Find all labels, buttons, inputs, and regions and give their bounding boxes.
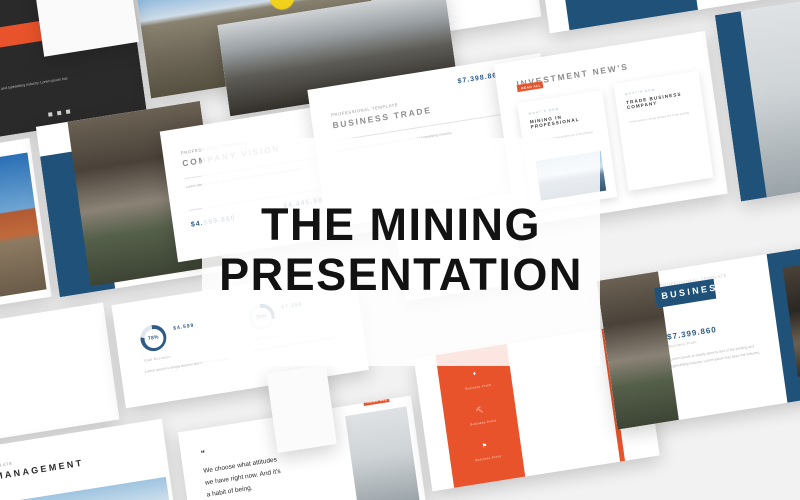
quote-photo xyxy=(345,406,420,500)
excavator-photo xyxy=(0,153,47,308)
donut-78-label: Total Business xyxy=(143,355,171,363)
quote-mark: " xyxy=(200,448,207,459)
contact-blue-block xyxy=(558,0,698,30)
management-title: ABOUT MANAGEMENT xyxy=(0,458,84,490)
donut-78-sub: $4.599 xyxy=(173,323,195,332)
title-line-2: PRESENTATION xyxy=(219,250,583,300)
investment-card-2-kicker: WHAT'S NEW xyxy=(625,87,656,96)
investment-card-2-blurb: Lorem ipsum is simply dummy text of the … xyxy=(629,110,695,126)
investment-card-2[interactable]: WHAT'S NEW TRADE BUSINESS COMPANY Lorem … xyxy=(613,71,713,191)
investment-card-2-photo xyxy=(632,132,703,182)
social-icon-facebook[interactable] xyxy=(57,111,62,116)
slide-worker-portrait[interactable] xyxy=(715,0,800,201)
slide-business-plan[interactable]: Professional Template BUSINESS PLAN $7.3… xyxy=(597,233,800,430)
donut-78-value: 78% xyxy=(139,323,168,353)
plan-figure: $7.399.860 xyxy=(667,325,718,342)
management-photo xyxy=(0,477,174,500)
social-icon-linkedin[interactable] xyxy=(48,112,53,117)
title-line-1: THE MINING xyxy=(261,200,541,250)
presentation-mockup: Mining Reporting About Professional Temp… xyxy=(0,0,800,500)
slide-filler-3 xyxy=(266,364,336,453)
investment-card-1-kicker: WHAT'S NEW xyxy=(528,107,559,116)
plan-figure-label: Business Profit xyxy=(668,340,697,348)
donut-78: 78% xyxy=(139,323,168,353)
social-icon-twitter[interactable] xyxy=(66,109,71,114)
presentation-title: THE MINING PRESENTATION xyxy=(202,150,600,350)
